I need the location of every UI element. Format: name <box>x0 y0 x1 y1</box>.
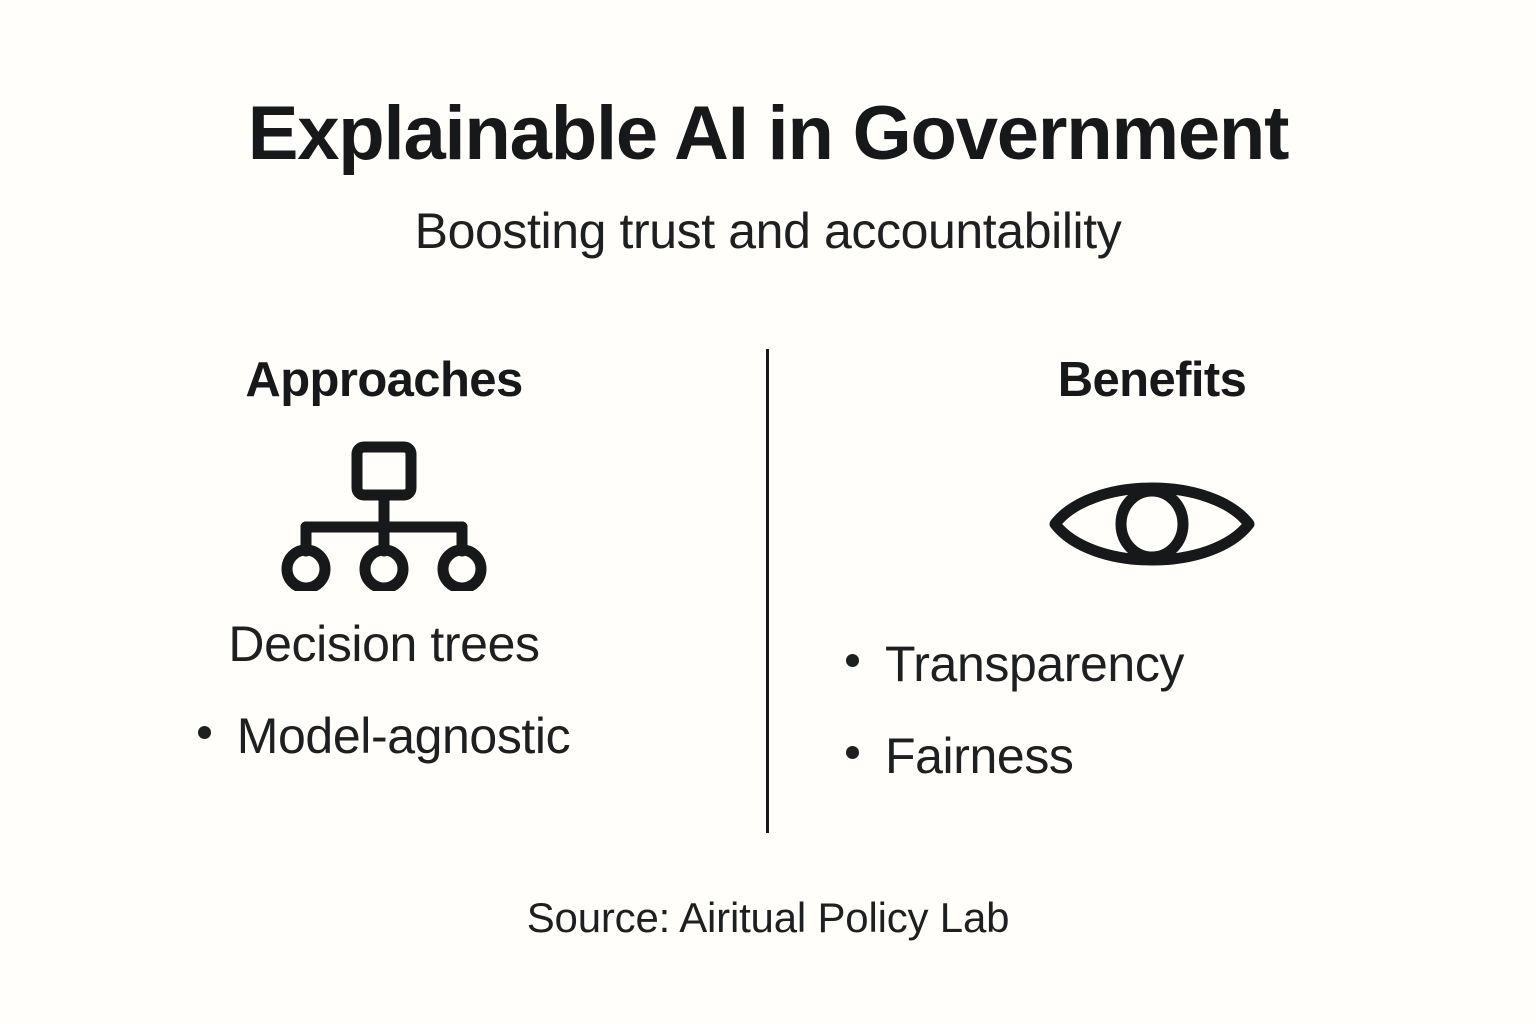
list-item-label: Model-agnostic <box>237 711 570 761</box>
eye-icon <box>1047 457 1257 591</box>
bullet-icon <box>846 746 859 759</box>
column-benefits: Benefits Transparency Fairness <box>768 344 1536 823</box>
page-subtitle: Boosting trust and accountability <box>0 172 1536 256</box>
bullet-icon <box>198 726 211 739</box>
list-item: Model-agnostic <box>0 711 768 761</box>
source-caption: Source: Airitual Policy Lab <box>0 894 1536 942</box>
column-heading-benefits: Benefits <box>1058 344 1247 405</box>
benefits-list: Transparency Fairness <box>768 639 1536 823</box>
page-title: Explainable AI in Government <box>0 96 1536 172</box>
list-item: Fairness <box>768 731 1536 781</box>
columns-container: Approaches Decision trees <box>0 344 1536 844</box>
list-item-label: Decision trees <box>228 619 539 669</box>
list-item-label: Fairness <box>885 731 1074 781</box>
column-approaches: Approaches Decision trees <box>0 344 768 803</box>
slide-canvas: Explainable AI in Government Boosting tr… <box>0 0 1536 1024</box>
approaches-list: Decision trees Model-agnostic <box>0 619 768 803</box>
decision-tree-icon <box>279 441 489 591</box>
slide-header: Explainable AI in Government Boosting tr… <box>0 96 1536 256</box>
list-item-label: Transparency <box>885 639 1184 689</box>
bullet-icon <box>846 654 859 667</box>
list-item: Decision trees <box>0 619 768 669</box>
column-heading-approaches: Approaches <box>245 344 522 405</box>
list-item: Transparency <box>768 639 1536 689</box>
